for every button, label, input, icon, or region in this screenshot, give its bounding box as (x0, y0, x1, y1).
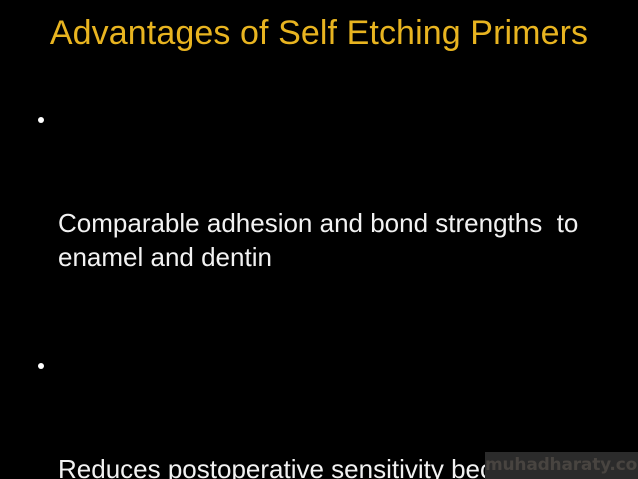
bullet-dot-icon (38, 117, 44, 123)
bullet-dot-icon (38, 363, 44, 369)
list-item-text: Comparable adhesion and bond strengths t… (58, 206, 610, 274)
presentation-slide: Advantages of Self Etching Primers Compa… (0, 0, 638, 479)
bullet-list: Comparable adhesion and bond strengths t… (30, 104, 610, 479)
watermark: muhadharaty.com (485, 452, 638, 479)
slide-title: Advantages of Self Etching Primers (0, 12, 638, 54)
watermark-text: muhadharaty.com (485, 452, 638, 479)
list-item: Comparable adhesion and bond strengths t… (30, 104, 610, 342)
